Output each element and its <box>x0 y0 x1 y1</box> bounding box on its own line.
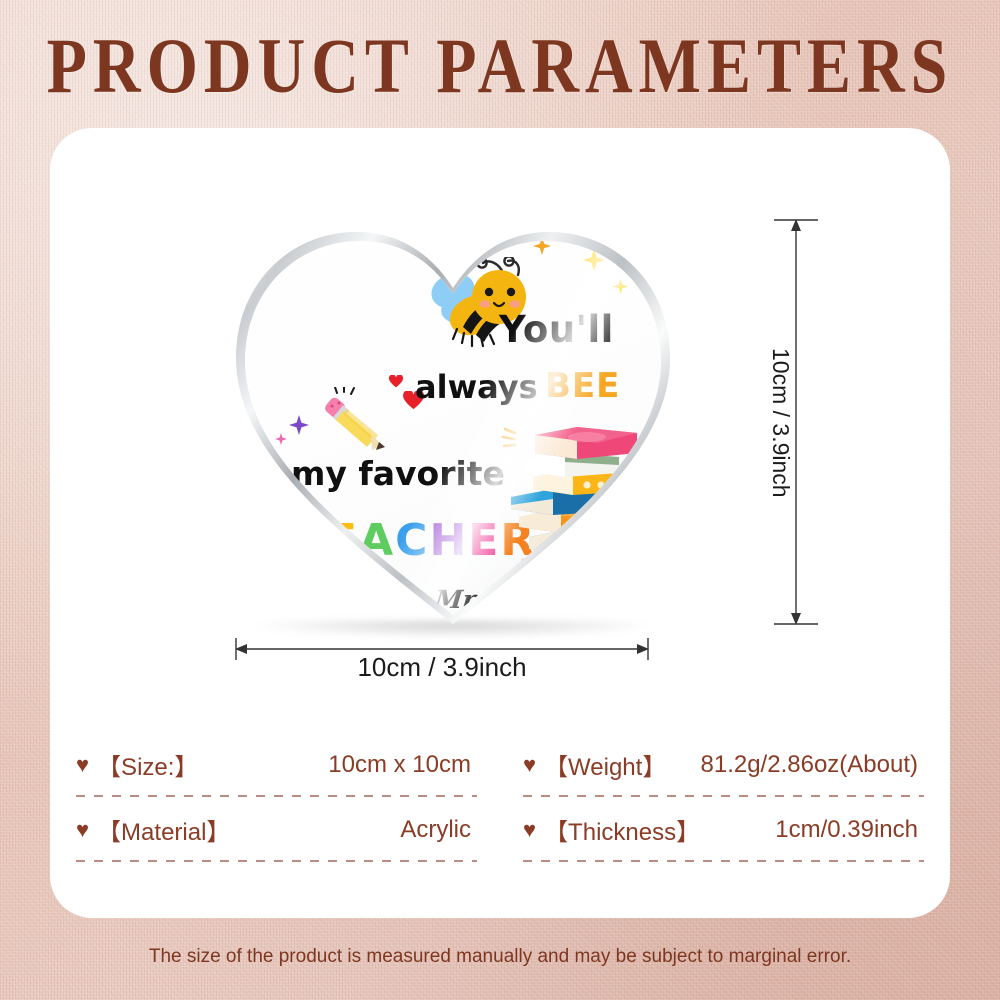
plaque-white-surface: You'll always BEE my favorite TEACHER <box>237 219 669 619</box>
sparkle-icon <box>533 237 551 255</box>
teacher-letter: H <box>429 519 468 563</box>
spec-key: 【Material】 <box>97 812 230 847</box>
spec-row-material: ♥ 【Material】 Acrylic <box>76 797 477 862</box>
spec-value: 1cm/0.39inch <box>775 816 924 844</box>
spec-key: 【Size:】 <box>97 747 198 782</box>
heart-bullet-icon: ♥ <box>76 819 89 841</box>
plaque-line-2-black: always <box>415 371 538 403</box>
plaque-line-1: You'll <box>499 311 614 348</box>
spec-row-weight: ♥ 【Weight】 81.2g/2.86oz(About) <box>523 732 924 797</box>
plaque-line-3: my favorite <box>291 457 505 490</box>
plaque-print-face: You'll always BEE my favorite TEACHER <box>237 219 669 619</box>
product-stage: You'll always BEE my favorite TEACHER <box>50 128 950 708</box>
heart-bullet-icon: ♥ <box>523 819 536 841</box>
spec-value: 10cm x 10cm <box>328 751 477 779</box>
pencil-icon <box>317 387 395 453</box>
swirl-icon <box>367 585 439 615</box>
teacher-letter: T <box>295 519 327 563</box>
spec-key: 【Thickness】 <box>544 812 700 847</box>
spec-row-size: ♥ 【Size:】 10cm x 10cm <box>76 732 477 797</box>
heart-bullet-icon: ♥ <box>76 754 89 776</box>
spec-key: 【Weight】 <box>544 747 666 782</box>
spec-value: Acrylic <box>400 816 477 844</box>
footer-note: The size of the product is measured manu… <box>0 946 1000 968</box>
spec-value: 81.2g/2.86oz(About) <box>701 751 925 779</box>
sparkle-icon <box>613 279 628 294</box>
vertical-dimension-label: 10cm / 3.9inch <box>767 348 794 498</box>
heart-acrylic-plaque: You'll always BEE my favorite TEACHER <box>228 210 678 628</box>
spec-row-thickness: ♥ 【Thickness】 1cm/0.39inch <box>523 797 924 862</box>
product-card: You'll always BEE my favorite TEACHER <box>50 128 950 918</box>
page-title: PRODUCT PARAMETERS <box>47 28 954 106</box>
book-stack-icon <box>499 415 639 605</box>
heart-bullet-icon: ♥ <box>523 754 536 776</box>
teacher-letter: E <box>468 519 500 563</box>
teacher-letter: E <box>327 519 359 563</box>
sparkle-icon <box>289 415 309 435</box>
spec-table: ♥ 【Size:】 10cm x 10cm ♥ 【Weight】 81.2g/2… <box>50 732 950 862</box>
teacher-letter: A <box>359 519 395 563</box>
sparkle-icon <box>583 249 605 271</box>
plaque-artwork: You'll always BEE my favorite TEACHER <box>237 219 669 619</box>
plaque-line-2-accent: BEE <box>545 369 620 403</box>
teacher-letter: C <box>395 519 429 563</box>
header: PRODUCT PARAMETERS <box>0 28 1000 106</box>
plaque-signature: Mr.Aaron <box>434 587 568 612</box>
horizontal-dimension-label: 10cm / 3.9inch <box>232 652 652 683</box>
sparkle-icon <box>275 433 287 445</box>
